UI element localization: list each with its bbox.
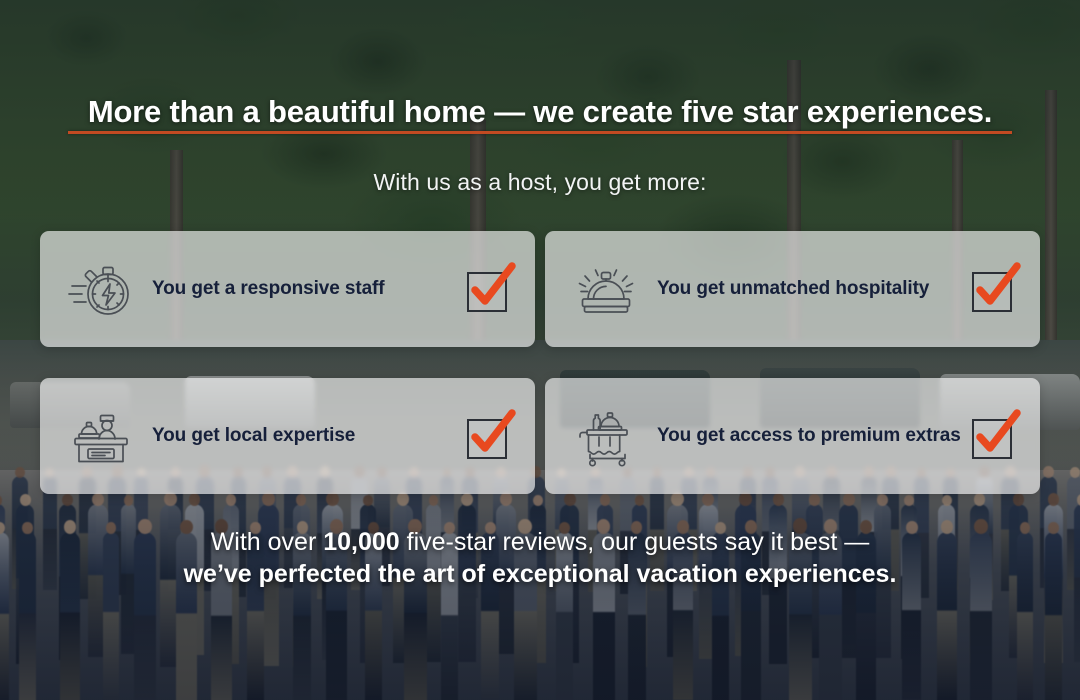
review-count: 10,000 [323,528,399,556]
title-underline-rule [68,131,1012,134]
review-prefix: With over [211,528,324,556]
checkbox-checked[interactable] [465,413,511,459]
check-icon [463,407,519,463]
hero-section: More than a beautiful home — we create f… [0,0,1080,700]
benefits-card-grid: You get a responsive staff [40,231,1040,494]
review-line-2: we’ve perfected the art of exceptional v… [0,558,1080,590]
review-statement: With over 10,000 five-star reviews, our … [0,526,1080,590]
review-line-1: With over 10,000 five-star reviews, our … [211,528,870,556]
room-service-cart-icon [569,399,643,473]
check-icon [968,407,1024,463]
page-title: More than a beautiful home — we create f… [0,94,1080,130]
benefit-card-responsive-staff[interactable]: You get a responsive staff [40,231,535,347]
review-suffix: five-star reviews, our guests say it bes… [400,528,870,556]
stopwatch-icon [64,252,138,326]
benefit-label: You get a responsive staff [152,278,465,300]
benefit-card-unmatched-hospitality[interactable]: You get unmatched hospitality [545,231,1040,347]
benefit-card-premium-extras[interactable]: You get access to premium extras [545,378,1040,494]
benefit-label: You get local expertise [152,425,465,447]
check-icon [463,260,519,316]
benefit-card-local-expertise[interactable]: You get local expertise [40,378,535,494]
concierge-desk-icon [64,399,138,473]
checkbox-checked[interactable] [465,266,511,312]
checkbox-checked[interactable] [970,413,1016,459]
service-bell-icon [569,252,643,326]
check-icon [968,260,1024,316]
benefit-label: You get access to premium extras [657,425,970,447]
checkbox-checked[interactable] [970,266,1016,312]
page-subtitle: With us as a host, you get more: [0,169,1080,196]
benefit-label: You get unmatched hospitality [657,278,970,300]
